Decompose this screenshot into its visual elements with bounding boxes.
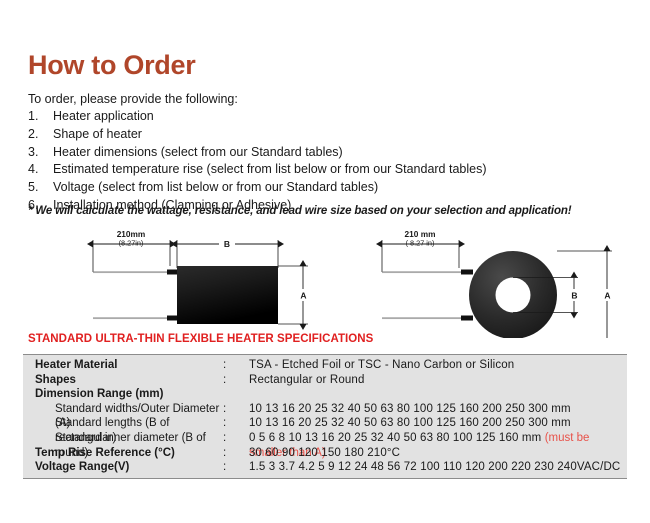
order-steps-list: 1. Heater application 2. Shape of heater… (28, 108, 628, 215)
spec-value: 10 13 16 20 25 32 40 50 63 80 100 125 16… (249, 402, 627, 417)
list-item-label: Estimated temperature rise (select from … (53, 161, 628, 179)
specifications-table: Heater Material : TSA - Etched Foil or T… (23, 354, 627, 479)
table-row: Heater Material : TSA - Etched Foil or T… (23, 358, 627, 373)
spec-section-heading: STANDARD ULTRA-THIN FLEXIBLE HEATER SPEC… (28, 333, 373, 345)
round-dim-b-label: B (571, 291, 577, 301)
table-row: Standard inner diameter (B of round) : 0… (23, 431, 627, 446)
table-row: Dimension Range (mm) (23, 387, 627, 402)
spec-colon: : (223, 402, 249, 417)
table-row: Standard widths/Outer Diameter (A) : 10 … (23, 402, 627, 417)
list-item: 4. Estimated temperature rise (select fr… (28, 161, 628, 179)
spec-colon: : (223, 446, 249, 461)
list-item-label: Heater dimensions (select from our Stand… (53, 144, 628, 162)
rectangular-heater-diagram: 210mm (8.27in) B A (93, 229, 311, 324)
list-item-number: 5. (28, 179, 53, 197)
page-title: How to Order (28, 52, 195, 79)
list-item-number: 4. (28, 161, 53, 179)
round-lead-length-mm: 210 mm (405, 229, 436, 239)
table-row: Shapes : Rectangular or Round (23, 373, 627, 388)
spec-label: Shapes (23, 373, 223, 388)
spec-value: 1.5 3 3.7 4.2 5 9 12 24 48 56 72 100 110… (249, 460, 627, 475)
rect-lead-length-mm: 210mm (117, 229, 146, 239)
round-lead-length-in: ( 8.27 in) (406, 239, 435, 248)
product-diagrams: 210mm (8.27in) B A (0, 226, 650, 338)
list-item-number: 3. (28, 144, 53, 162)
spec-colon: : (223, 358, 249, 373)
list-item: 3. Heater dimensions (select from our St… (28, 144, 628, 162)
table-row: Temp Rise Reference (°C) : 30 60 90 120 … (23, 446, 627, 461)
list-item-number: 2. (28, 126, 53, 144)
heater-dimension-diagrams: 210mm (8.27in) B A (0, 226, 650, 338)
footnote-text: * We will calculate the wattage, resista… (28, 205, 571, 217)
list-item-number: 1. (28, 108, 53, 126)
list-item: 5. Voltage (select from list below or fr… (28, 179, 628, 197)
list-item-label: Heater application (53, 108, 628, 126)
rect-dim-b-label: B (224, 239, 230, 249)
spec-label: Voltage Range(V) (23, 460, 223, 475)
table-row: Standard lengths (B of rectangular) : 10… (23, 416, 627, 431)
table-row: Voltage Range(V) : 1.5 3 3.7 4.2 5 9 12 … (23, 460, 627, 475)
spec-label: Heater Material (23, 358, 223, 373)
round-dim-a-label: A (604, 291, 610, 301)
spec-colon: : (223, 373, 249, 388)
spec-colon: : (223, 460, 249, 475)
list-item: 2. Shape of heater (28, 126, 628, 144)
spec-value: 10 13 16 20 25 32 40 50 63 80 100 125 16… (249, 416, 627, 431)
spec-label: Temp Rise Reference (°C) (23, 446, 223, 461)
spec-colon: : (223, 416, 249, 431)
spec-colon: : (223, 431, 249, 446)
list-item-label: Voltage (select from list below or from … (53, 179, 628, 197)
list-item-label: Shape of heater (53, 126, 628, 144)
spec-value-text: 0 5 6 8 10 13 16 20 25 32 40 50 63 80 10… (249, 432, 545, 444)
list-item: 1. Heater application (28, 108, 628, 126)
rect-lead-length-in: (8.27in) (119, 239, 144, 248)
spec-value: TSA - Etched Foil or TSC - Nano Carbon o… (249, 358, 627, 373)
intro-text: To order, please provide the following: (28, 92, 238, 108)
spec-value: 30 60 90 120 150 180 210°C (249, 446, 627, 461)
rect-dim-a-label: A (300, 291, 306, 301)
round-heater-diagram: 210 mm ( 8.27 in) B A (382, 229, 615, 338)
spec-value: Rectangular or Round (249, 373, 627, 388)
spec-label: Dimension Range (mm) (23, 387, 223, 402)
